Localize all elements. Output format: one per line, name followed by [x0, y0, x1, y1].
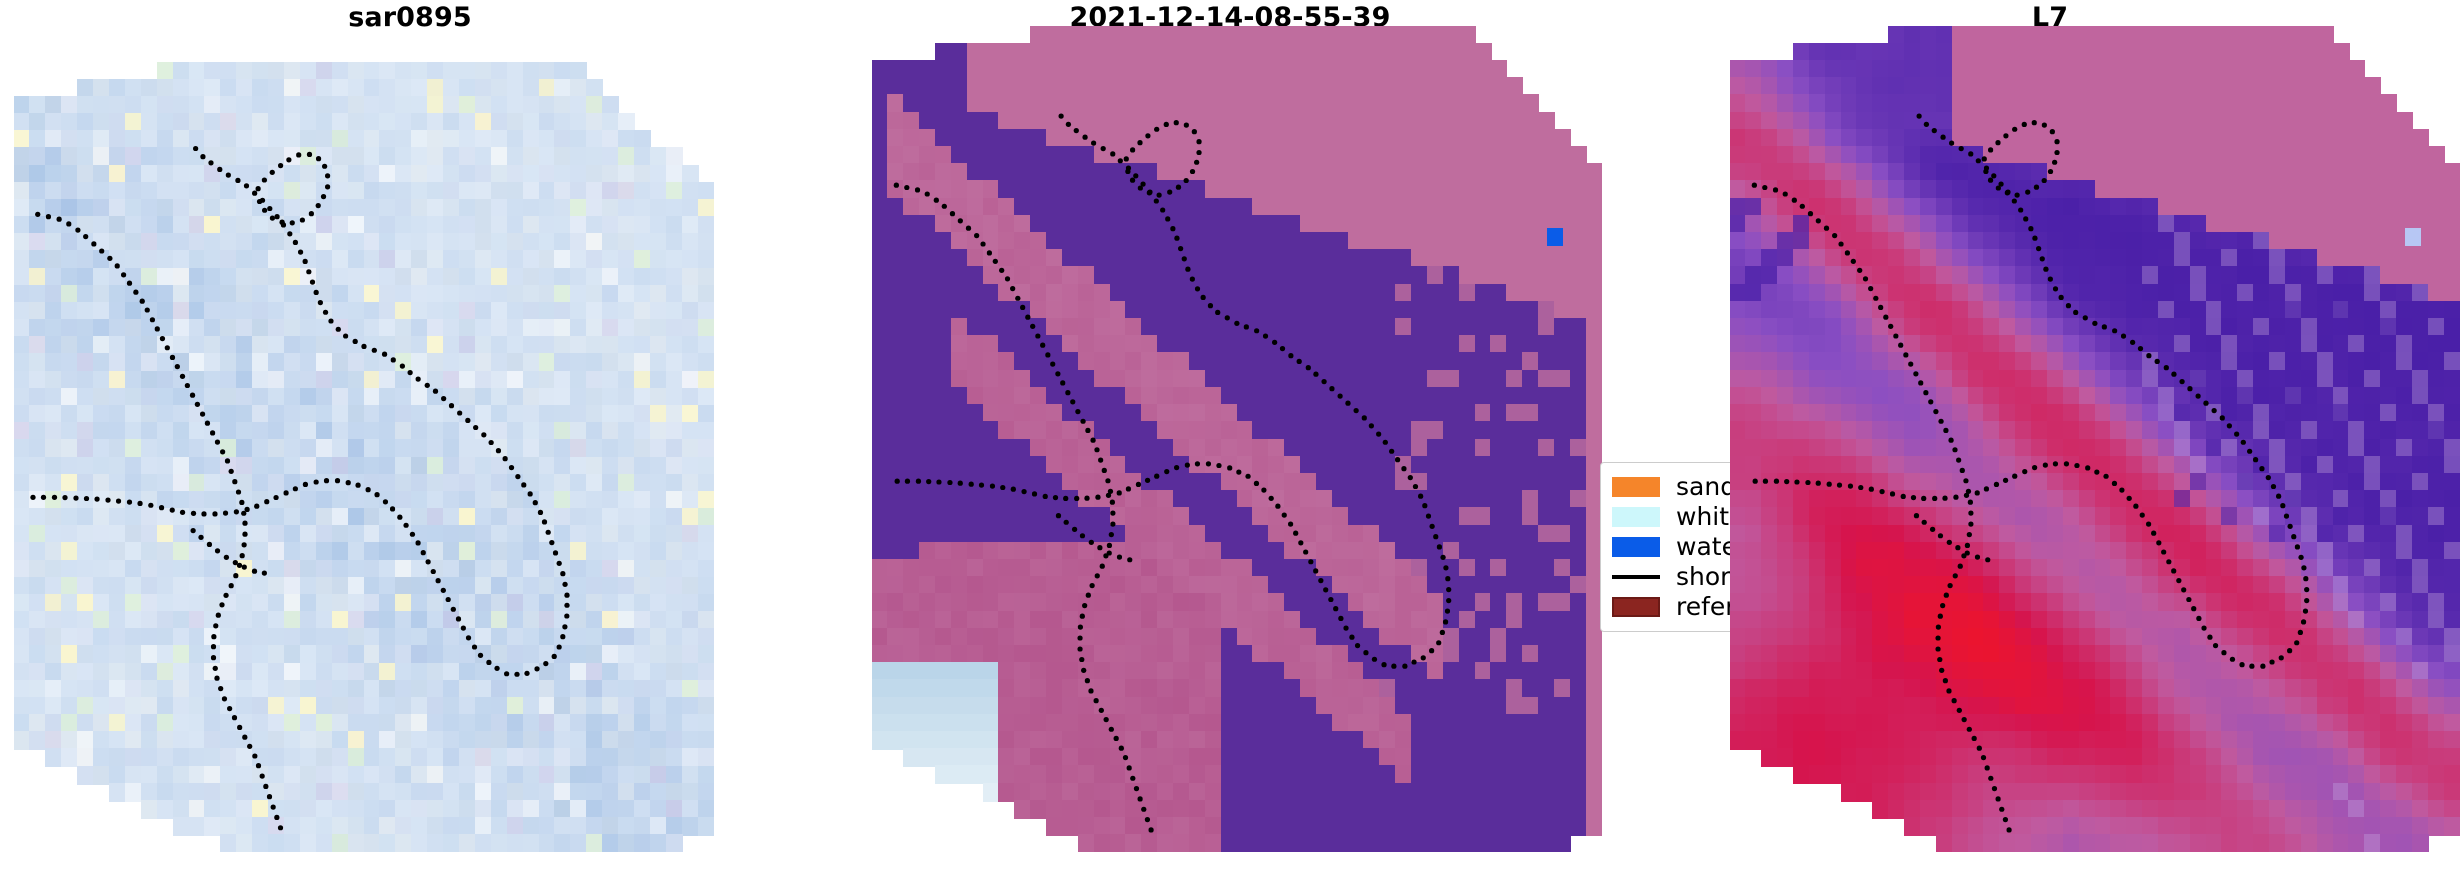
legend-item-water[interactable]: water	[1612, 532, 1730, 562]
axes-l7	[1730, 26, 2460, 852]
axes-sar	[14, 62, 714, 852]
panel-title-sar: sar0895	[0, 0, 820, 36]
panel-l7: L7	[1640, 0, 2460, 882]
legend-swatch-water	[1612, 537, 1660, 557]
legend: sand whitewater water shoreline referenc…	[1600, 462, 1730, 632]
legend-label-reference: reference	[1676, 592, 1730, 622]
classified-image-canvas	[872, 26, 1602, 852]
axes-classified	[872, 26, 1602, 852]
figure-root: sar0895 2021-12-14-08-55-39 L7 sand whit…	[0, 0, 2460, 882]
sar-image-canvas	[14, 62, 714, 852]
legend-clip-region: sand whitewater water shoreline referenc…	[1600, 455, 1730, 635]
legend-swatch-shoreline	[1612, 575, 1660, 579]
legend-item-reference[interactable]: reference	[1612, 592, 1730, 622]
panel-sar0895: sar0895	[0, 0, 820, 882]
legend-label-water: water	[1676, 532, 1730, 562]
l7-image-canvas	[1730, 26, 2460, 852]
legend-label-sand: sand	[1676, 472, 1730, 502]
legend-label-shoreline: shoreline	[1676, 562, 1730, 592]
legend-item-sand[interactable]: sand	[1612, 472, 1730, 502]
legend-swatch-sand	[1612, 477, 1660, 497]
legend-swatch-whitewater	[1612, 507, 1660, 527]
legend-item-shoreline[interactable]: shoreline	[1612, 562, 1730, 592]
panel-classified: 2021-12-14-08-55-39	[820, 0, 1640, 882]
legend-swatch-reference	[1612, 597, 1660, 617]
legend-label-whitewater: whitewater	[1676, 502, 1730, 532]
legend-item-whitewater[interactable]: whitewater	[1612, 502, 1730, 532]
